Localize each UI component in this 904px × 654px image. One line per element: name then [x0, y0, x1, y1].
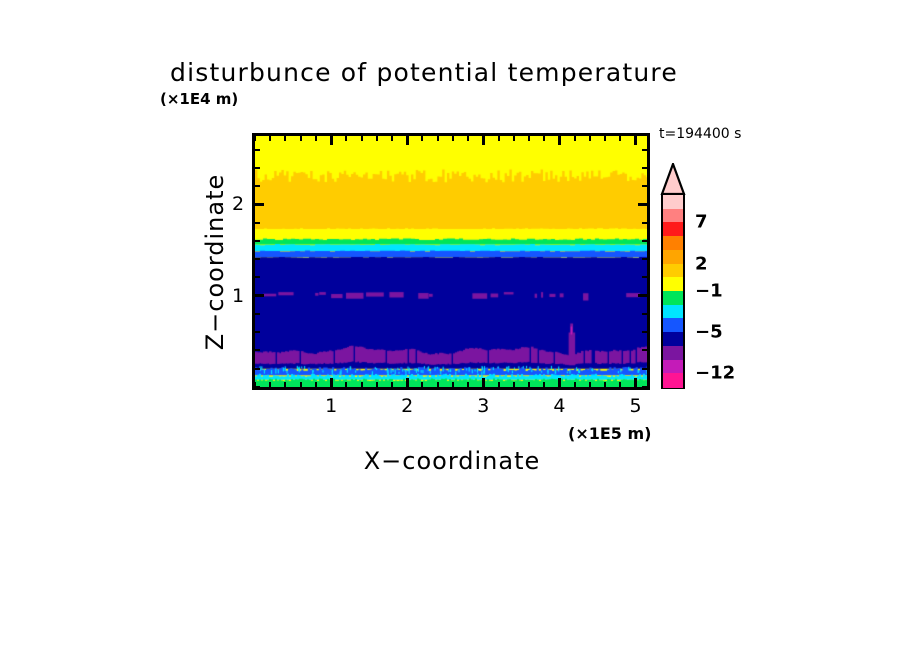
x-tick-bottom: [300, 382, 302, 387]
x-tick-top: [254, 136, 256, 141]
swatch-red: [663, 222, 683, 236]
x-tick-top: [589, 136, 591, 141]
x-tick-top: [437, 136, 439, 141]
y-tick-left: [255, 294, 264, 297]
y-tick-left: [255, 203, 264, 206]
swatch-violet: [663, 346, 683, 360]
swatch-yellow: [663, 277, 683, 291]
x-tick-top: [315, 136, 317, 141]
x-tick-top: [619, 136, 621, 141]
y-tick-left: [255, 386, 260, 388]
swatch-blue: [663, 318, 683, 332]
x-tick-bottom: [315, 382, 317, 387]
y-tick-right: [642, 222, 647, 224]
y-tick-right: [642, 349, 647, 351]
x-tick-bottom: [406, 378, 409, 387]
y-tick-left: [255, 167, 260, 169]
y-tick-right: [642, 185, 647, 187]
y-tick-right: [642, 313, 647, 315]
x-tick-bottom: [391, 382, 393, 387]
x-axis-title: X−coordinate: [364, 447, 541, 475]
colorbar-tick-label: −1: [695, 281, 723, 302]
x-tick-top: [513, 136, 515, 141]
y-axis-unit-label: (×1E4 m): [160, 90, 238, 108]
y-tick-right: [642, 149, 647, 151]
x-tick-top: [467, 136, 469, 141]
y-tick-left: [255, 258, 260, 260]
x-tick-top: [421, 136, 423, 141]
x-tick-bottom: [284, 382, 286, 387]
x-tick-bottom: [558, 378, 561, 387]
x-tick-bottom: [452, 382, 454, 387]
x-tick-top: [406, 136, 409, 145]
y-tick-left: [255, 368, 260, 370]
y-tick-left: [255, 313, 260, 315]
y-tick-left: [255, 331, 260, 333]
swatch-pink: [663, 373, 683, 387]
swatch-navy: [663, 332, 683, 346]
x-tick-label: 2: [401, 395, 413, 417]
x-tick-top: [574, 136, 576, 141]
x-tick-bottom: [574, 382, 576, 387]
x-tick-bottom: [513, 382, 515, 387]
x-tick-bottom: [345, 382, 347, 387]
y-tick-right: [638, 294, 647, 297]
y-tick-right: [642, 368, 647, 370]
x-tick-top: [345, 136, 347, 141]
swatch-amber: [663, 250, 683, 264]
y-tick-left: [255, 185, 260, 187]
x-tick-top: [376, 136, 378, 141]
x-tick-top: [269, 136, 271, 141]
y-tick-right: [642, 240, 647, 242]
y-tick-right: [642, 276, 647, 278]
swatch-orange: [663, 236, 683, 250]
page-title: disturbunce of potential temperature: [170, 58, 678, 87]
y-tick-right: [642, 258, 647, 260]
swatch-light-pink: [663, 195, 683, 209]
x-tick-bottom: [543, 382, 545, 387]
x-tick-bottom: [467, 382, 469, 387]
y-tick-left: [255, 149, 260, 151]
x-tick-bottom: [482, 378, 485, 387]
y-tick-left: [255, 349, 260, 351]
x-tick-top: [284, 136, 286, 141]
colorbar-extend-arrow-icon: [660, 163, 686, 195]
swatch-cyan: [663, 305, 683, 319]
x-tick-top: [543, 136, 545, 141]
y-tick-right: [642, 167, 647, 169]
x-tick-bottom: [421, 382, 423, 387]
swatch-gold: [663, 264, 683, 278]
contour-field: [255, 136, 647, 387]
x-tick-label: 4: [553, 395, 565, 417]
y-tick-label: 2: [232, 193, 244, 215]
y-tick-left: [255, 276, 260, 278]
colorbar-tick-label: −12: [695, 363, 735, 384]
swatch-magenta: [663, 360, 683, 374]
y-tick-left: [255, 222, 260, 224]
x-tick-bottom: [330, 378, 333, 387]
x-tick-top: [361, 136, 363, 141]
colorbar-tick-label: −5: [695, 322, 723, 343]
x-axis-unit-label: (×1E5 m): [568, 424, 651, 443]
x-tick-label: 1: [325, 395, 337, 417]
x-tick-top: [300, 136, 302, 141]
x-tick-top: [558, 136, 561, 145]
colorbar: [661, 193, 685, 389]
x-tick-bottom: [498, 382, 500, 387]
x-tick-label: 3: [477, 395, 489, 417]
y-tick-right: [638, 203, 647, 206]
y-tick-left: [255, 240, 260, 242]
colorbar-tick-label: 7: [695, 212, 708, 233]
x-tick-top: [528, 136, 530, 141]
x-tick-top: [498, 136, 500, 141]
x-tick-top: [634, 136, 637, 145]
x-tick-bottom: [619, 382, 621, 387]
x-tick-bottom: [528, 382, 530, 387]
x-tick-bottom: [634, 378, 637, 387]
x-tick-top: [391, 136, 393, 141]
swatch-salmon: [663, 209, 683, 223]
x-tick-top: [452, 136, 454, 141]
y-tick-right: [642, 386, 647, 388]
x-tick-bottom: [604, 382, 606, 387]
x-tick-label: 5: [630, 395, 642, 417]
x-tick-top: [604, 136, 606, 141]
y-tick-label: 1: [232, 285, 244, 307]
x-tick-bottom: [361, 382, 363, 387]
x-tick-top: [482, 136, 485, 145]
x-tick-bottom: [589, 382, 591, 387]
timestamp-label: t=194400 s: [659, 126, 741, 142]
contour-plot-frame: [252, 133, 650, 390]
swatch-green: [663, 291, 683, 305]
x-tick-bottom: [269, 382, 271, 387]
x-tick-bottom: [376, 382, 378, 387]
x-tick-bottom: [437, 382, 439, 387]
x-tick-top: [330, 136, 333, 145]
y-axis-title: Z−coordinate: [201, 174, 229, 351]
y-tick-right: [642, 331, 647, 333]
colorbar-tick-label: 2: [695, 253, 708, 274]
